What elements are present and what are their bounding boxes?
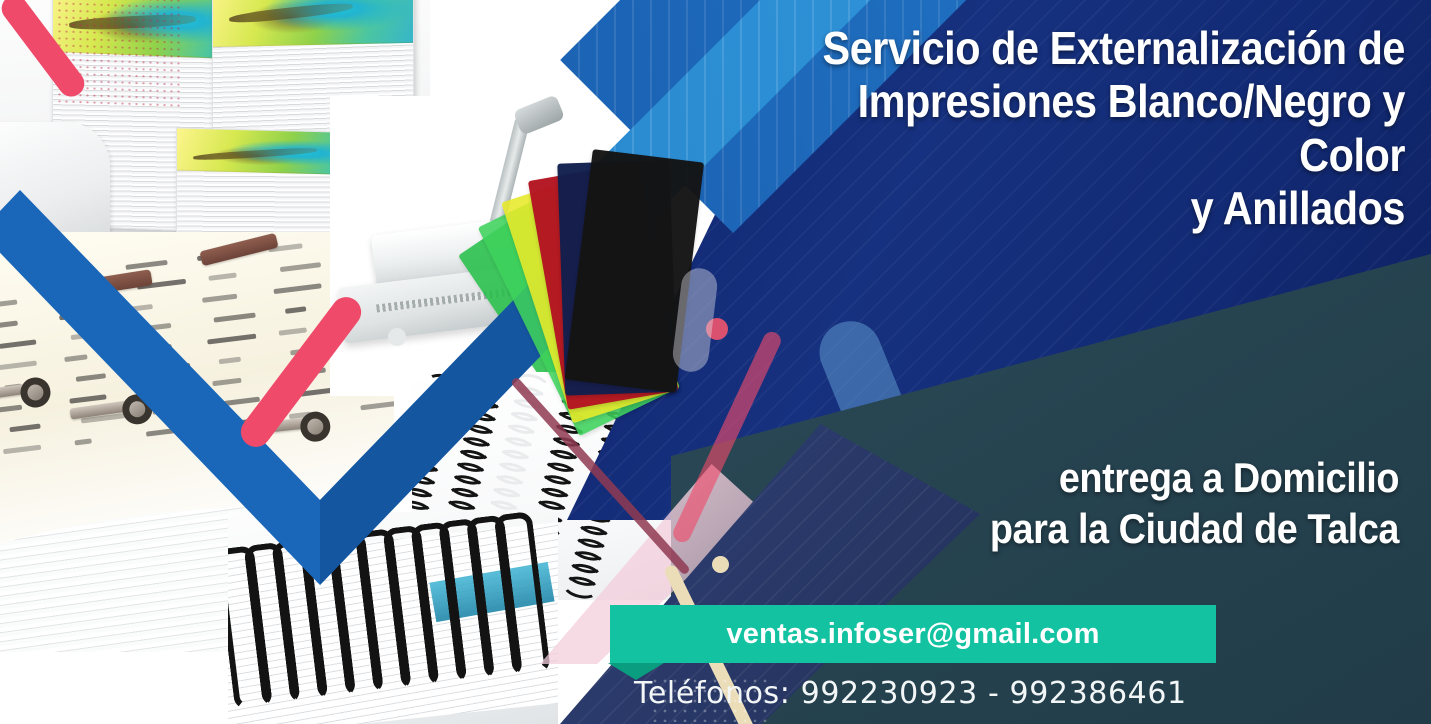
phone-numbers: Teléfonos: 992230923 - 992386461 (634, 676, 1234, 711)
email-address[interactable]: ventas.infoser@gmail.com (726, 618, 1099, 651)
headline: Servicio de Externalización de Impresion… (775, 22, 1405, 235)
subheadline-line-1: entrega a Domicilio (823, 452, 1399, 503)
headline-line-2: Impresiones Blanco/Negro y Color (775, 75, 1405, 182)
cream-dot-accent (712, 556, 729, 573)
subheadline: entrega a Domicilio para la Ciudad de Ta… (823, 452, 1399, 554)
promotional-banner: Servicio de Externalización de Impresion… (0, 0, 1431, 724)
headline-line-1: Servicio de Externalización de (775, 22, 1405, 75)
email-banner[interactable]: ventas.infoser@gmail.com (610, 605, 1216, 663)
headline-line-3: y Anillados (775, 182, 1405, 235)
subheadline-line-2: para la Ciudad de Talca (823, 503, 1399, 554)
